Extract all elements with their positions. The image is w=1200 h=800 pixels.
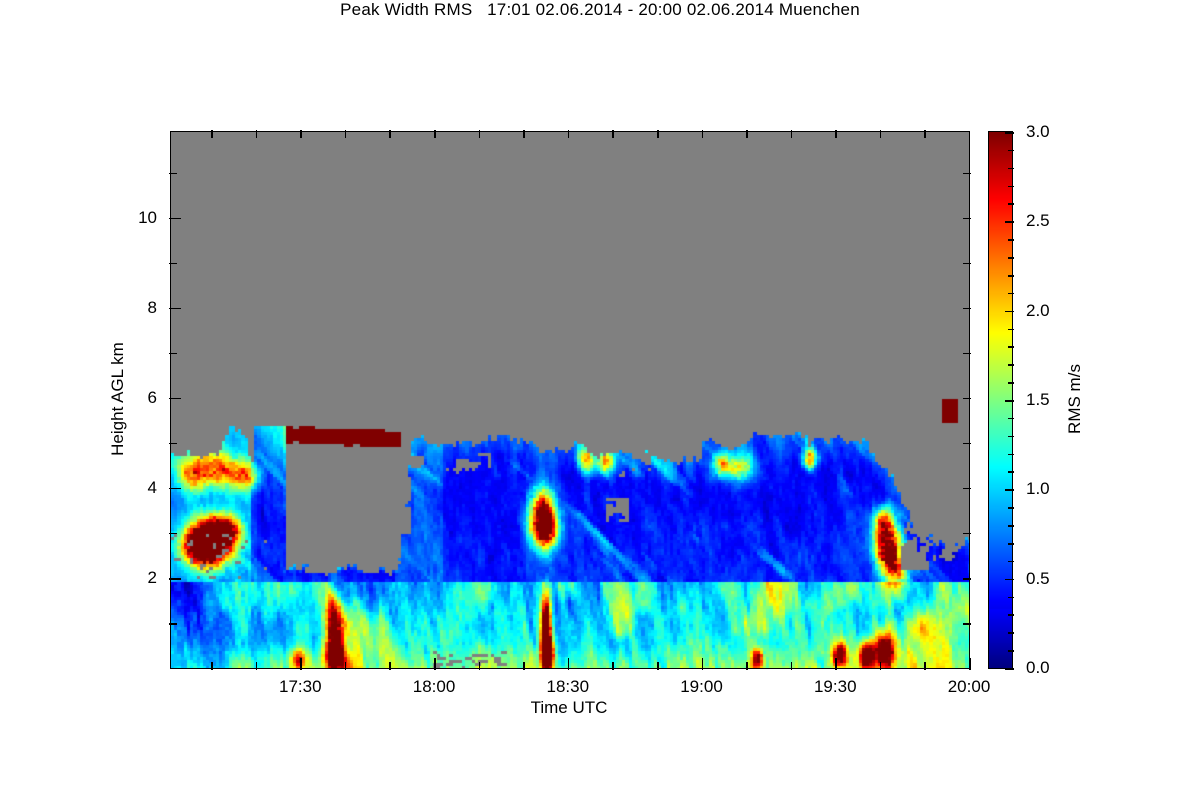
x-tick-minor-top bbox=[434, 130, 436, 138]
x-tick-minor-top bbox=[300, 130, 302, 138]
x-tick-minor-top bbox=[568, 130, 570, 138]
x-tick-minor-top bbox=[702, 130, 704, 138]
colorbar-tick-major bbox=[1005, 221, 1014, 223]
x-tick-minor-top bbox=[924, 130, 926, 138]
colorbar-title: RMS m/s bbox=[1065, 364, 1085, 434]
colorbar-tick-minor bbox=[1008, 561, 1014, 563]
colorbar-tick-minor bbox=[1008, 436, 1014, 438]
colorbar-tick-label: 1.5 bbox=[1026, 390, 1050, 410]
x-tick-major bbox=[300, 658, 302, 670]
colorbar-tick-minor bbox=[1008, 364, 1014, 366]
y-tick-minor-right bbox=[963, 173, 971, 175]
x-tick-label: 20:00 bbox=[948, 677, 991, 697]
x-tick-minor-top bbox=[880, 130, 882, 138]
colorbar-tick-label: 0.0 bbox=[1026, 658, 1050, 678]
colorbar-tick-minor bbox=[1008, 525, 1014, 527]
x-tick-minor bbox=[345, 662, 347, 670]
colorbar-tick-major bbox=[1005, 489, 1014, 491]
x-tick-label: 19:00 bbox=[680, 677, 723, 697]
colorbar-tick-label: 2.0 bbox=[1026, 301, 1050, 321]
x-tick-minor bbox=[211, 662, 213, 670]
colorbar-tick-minor bbox=[1008, 543, 1014, 545]
colorbar-tick-minor bbox=[1008, 186, 1014, 188]
y-tick-minor bbox=[169, 173, 177, 175]
colorbar-tick-minor bbox=[1008, 382, 1014, 384]
x-tick-major bbox=[568, 658, 570, 670]
y-tick-label: 8 bbox=[148, 298, 157, 318]
colorbar-tick-minor bbox=[1008, 614, 1014, 616]
colorbar-tick-minor bbox=[1008, 454, 1014, 456]
x-tick-minor-top bbox=[211, 130, 213, 138]
y-tick-label: 4 bbox=[148, 478, 157, 498]
colorbar-tick-major bbox=[1005, 579, 1014, 581]
y-tick-major bbox=[169, 398, 181, 400]
x-tick-minor-top bbox=[479, 130, 481, 138]
colorbar-tick-major bbox=[1005, 668, 1014, 670]
heatmap-clip bbox=[171, 132, 969, 668]
x-tick-minor bbox=[657, 662, 659, 670]
figure: Peak Width RMS 17:01 02.06.2014 - 20:00 … bbox=[0, 0, 1200, 800]
colorbar-tick-label: 2.5 bbox=[1026, 211, 1050, 231]
colorbar-tick-minor bbox=[1008, 471, 1014, 473]
x-tick-minor-top bbox=[746, 130, 748, 138]
x-tick-label: 18:00 bbox=[413, 677, 456, 697]
colorbar-tick-minor bbox=[1008, 275, 1014, 277]
y-tick-minor-right bbox=[963, 263, 971, 265]
y-tick-minor bbox=[169, 623, 177, 625]
y-tick-label: 6 bbox=[148, 388, 157, 408]
y-tick-major bbox=[169, 308, 181, 310]
y-tick-minor bbox=[169, 533, 177, 535]
colorbar-tick-minor bbox=[1008, 293, 1014, 295]
x-tick-minor-top bbox=[523, 130, 525, 138]
x-tick-minor-top bbox=[791, 130, 793, 138]
colorbar-tick-minor bbox=[1008, 329, 1014, 331]
y-tick-major bbox=[169, 578, 181, 580]
x-tick-minor bbox=[479, 662, 481, 670]
x-tick-minor-top bbox=[835, 130, 837, 138]
colorbar-tick-minor bbox=[1008, 168, 1014, 170]
colorbar-tick-minor bbox=[1008, 597, 1014, 599]
heatmap-canvas bbox=[171, 132, 969, 668]
x-tick-label: 18:30 bbox=[546, 677, 589, 697]
colorbar-tick-minor bbox=[1008, 632, 1014, 634]
y-tick-minor-right bbox=[963, 218, 971, 220]
x-tick-minor bbox=[880, 662, 882, 670]
y-tick-minor-right bbox=[963, 398, 971, 400]
y-tick-minor bbox=[169, 443, 177, 445]
x-tick-label: 17:30 bbox=[279, 677, 322, 697]
x-tick-major bbox=[835, 658, 837, 670]
y-tick-minor bbox=[169, 353, 177, 355]
x-tick-major bbox=[434, 658, 436, 670]
colorbar-tick-label: 3.0 bbox=[1026, 122, 1050, 142]
x-tick-minor-top bbox=[256, 130, 258, 138]
x-tick-major bbox=[969, 658, 971, 670]
y-tick-minor-right bbox=[963, 353, 971, 355]
x-tick-minor-top bbox=[657, 130, 659, 138]
plot-area[interactable]: 17:3018:0018:3019:0019:3020:00 246810 bbox=[170, 131, 970, 669]
y-tick-minor-right bbox=[963, 488, 971, 490]
y-tick-minor-right bbox=[963, 578, 971, 580]
colorbar-tick-minor bbox=[1008, 418, 1014, 420]
colorbar-tick-minor bbox=[1008, 203, 1014, 205]
x-tick-minor-top bbox=[389, 130, 391, 138]
x-tick-minor bbox=[256, 662, 258, 670]
colorbar-tick-minor bbox=[1008, 239, 1014, 241]
y-tick-label: 2 bbox=[148, 568, 157, 588]
x-tick-minor bbox=[389, 662, 391, 670]
y-tick-minor-right bbox=[963, 443, 971, 445]
y-axis-title: Height AGL km bbox=[108, 342, 128, 456]
x-tick-minor bbox=[612, 662, 614, 670]
x-tick-minor bbox=[791, 662, 793, 670]
y-tick-minor-right bbox=[963, 308, 971, 310]
y-tick-label: 10 bbox=[138, 208, 157, 228]
y-tick-minor-right bbox=[963, 623, 971, 625]
colorbar: 0.00.51.01.52.02.53.0 bbox=[988, 131, 1013, 669]
colorbar-tick-minor bbox=[1008, 507, 1014, 509]
x-tick-minor-top bbox=[612, 130, 614, 138]
y-tick-minor bbox=[169, 263, 177, 265]
x-tick-label: 19:30 bbox=[814, 677, 857, 697]
colorbar-tick-major bbox=[1005, 132, 1014, 134]
colorbar-tick-minor bbox=[1008, 650, 1014, 652]
colorbar-tick-minor bbox=[1008, 150, 1014, 152]
y-tick-major bbox=[169, 218, 181, 220]
colorbar-tick-major bbox=[1005, 400, 1014, 402]
colorbar-tick-major bbox=[1005, 311, 1014, 313]
x-axis-title: Time UTC bbox=[170, 698, 968, 718]
chart-title: Peak Width RMS 17:01 02.06.2014 - 20:00 … bbox=[0, 0, 1200, 20]
x-tick-major bbox=[702, 658, 704, 670]
colorbar-tick-minor bbox=[1008, 346, 1014, 348]
colorbar-tick-label: 0.5 bbox=[1026, 569, 1050, 589]
y-tick-minor-right bbox=[963, 533, 971, 535]
x-tick-minor bbox=[924, 662, 926, 670]
x-tick-minor-top bbox=[345, 130, 347, 138]
x-tick-minor bbox=[746, 662, 748, 670]
colorbar-tick-label: 1.0 bbox=[1026, 479, 1050, 499]
x-tick-minor bbox=[523, 662, 525, 670]
colorbar-tick-minor bbox=[1008, 257, 1014, 259]
y-tick-major bbox=[169, 488, 181, 490]
